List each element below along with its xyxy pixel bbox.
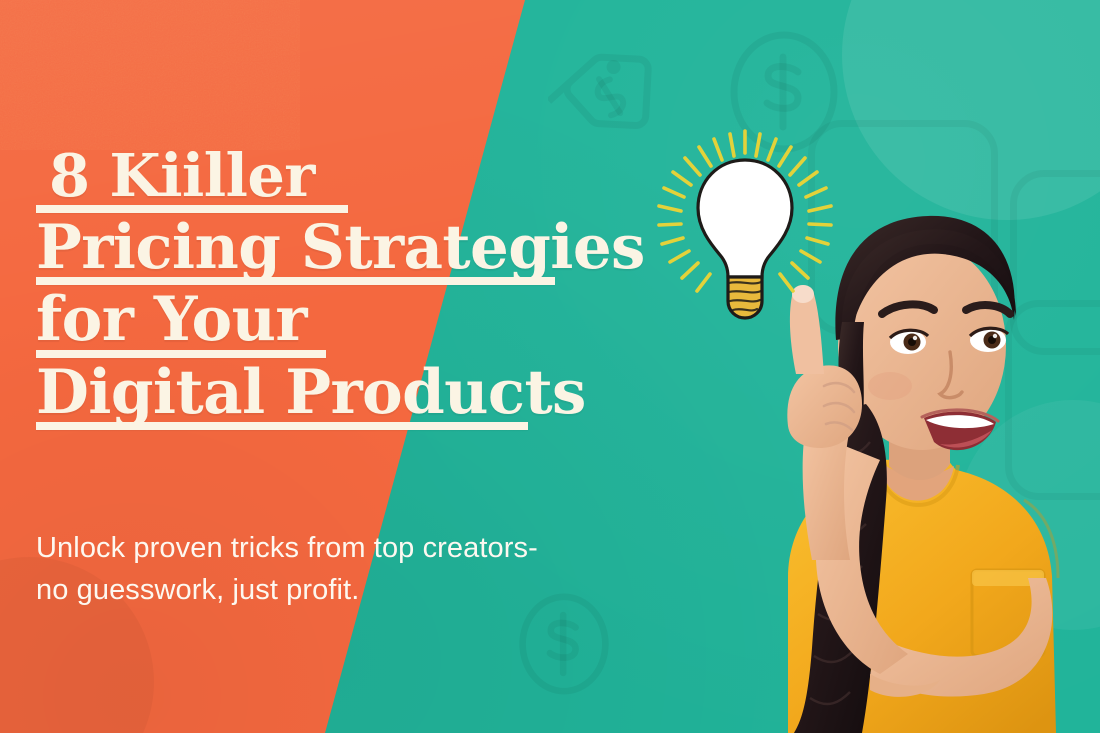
subtitle-line-2: no guesswork, just profit.	[36, 569, 636, 611]
subtitle: Unlock proven tricks from top creators- …	[36, 527, 636, 611]
headline-line-3: for Your	[36, 291, 636, 353]
content-block: 8 Kiiller Pricing Strategies for Your Di…	[36, 0, 656, 733]
headline-line-1: 8 Kiiller	[36, 148, 636, 208]
subtitle-line-1: Unlock proven tricks from top creators-	[36, 527, 636, 569]
headline-line-2: Pricing Strategies	[36, 219, 636, 281]
promo-banner: 8 Kiiller Pricing Strategies for Your Di…	[0, 0, 1100, 733]
headline-line-4: Digital Products	[36, 364, 636, 426]
page-title: 8 Kiiller Pricing Strategies for Your Di…	[36, 148, 636, 436]
